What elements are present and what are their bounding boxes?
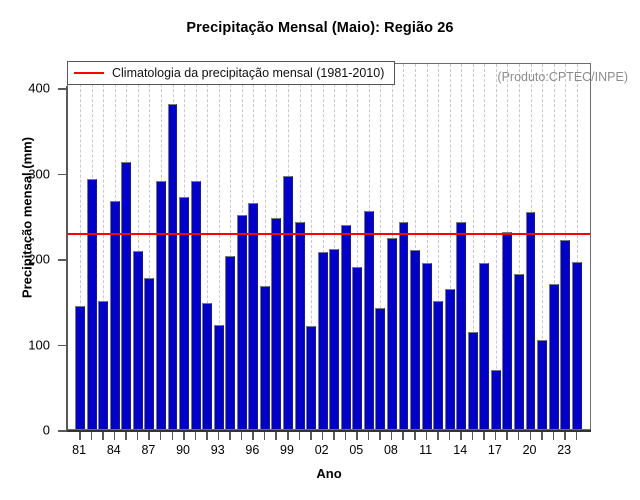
x-axis-tick-label: 20 xyxy=(515,443,545,457)
x-axis-tick xyxy=(79,432,81,440)
bar xyxy=(133,251,143,429)
x-axis-tick xyxy=(414,432,416,440)
bar xyxy=(202,303,212,429)
bar xyxy=(456,222,466,429)
x-axis-tick xyxy=(472,432,474,440)
y-axis-tick xyxy=(58,174,67,176)
x-axis-tick xyxy=(553,432,555,440)
y-axis-label: Precipitação mensal (mm) xyxy=(20,53,35,383)
bar xyxy=(399,222,409,429)
x-axis-tick xyxy=(264,432,266,440)
legend-line-swatch-icon xyxy=(74,72,104,74)
x-axis-tick xyxy=(506,432,508,440)
bar xyxy=(121,162,131,429)
y-axis-tick xyxy=(58,345,67,347)
bar xyxy=(248,203,258,429)
bar xyxy=(549,284,559,429)
x-axis-tick-label: 93 xyxy=(203,443,233,457)
bar xyxy=(560,240,570,429)
x-axis-tick-label: 08 xyxy=(376,443,406,457)
x-axis-tick xyxy=(252,432,254,440)
x-axis-tick-label: 17 xyxy=(480,443,510,457)
x-axis-tick xyxy=(576,432,578,440)
y-axis-tick xyxy=(58,430,67,432)
y-axis-tick xyxy=(58,259,67,261)
bar xyxy=(260,286,270,429)
bar xyxy=(352,267,362,429)
x-axis-tick xyxy=(287,432,289,440)
bar xyxy=(214,325,224,429)
chart-container: Precipitação Mensal (Maio): Região 26 01… xyxy=(0,0,640,500)
x-axis-tick xyxy=(564,432,566,440)
bar xyxy=(329,249,339,429)
bar xyxy=(537,340,547,429)
bar xyxy=(271,218,281,429)
x-axis-tick xyxy=(460,432,462,440)
x-axis-tick-label: 99 xyxy=(272,443,302,457)
bar xyxy=(526,212,536,429)
x-axis-tick xyxy=(275,432,277,440)
x-axis-tick xyxy=(449,432,451,440)
x-axis-tick-label: 11 xyxy=(411,443,441,457)
bar xyxy=(225,256,235,429)
legend-label: Climatologia da precipitação mensal (198… xyxy=(112,66,384,80)
y-axis-tick xyxy=(58,88,67,90)
x-axis-tick xyxy=(426,432,428,440)
bar xyxy=(468,332,478,429)
x-axis-tick xyxy=(437,432,439,440)
x-axis-line xyxy=(67,430,591,432)
x-axis-tick xyxy=(206,432,208,440)
x-axis-label: Ano xyxy=(67,466,591,481)
bar xyxy=(433,301,443,429)
x-axis-tick xyxy=(391,432,393,440)
x-axis-tick xyxy=(241,432,243,440)
x-axis-tick xyxy=(541,432,543,440)
x-axis-tick xyxy=(483,432,485,440)
x-axis-tick xyxy=(368,432,370,440)
x-axis-tick xyxy=(148,432,150,440)
x-axis-tick-label: 96 xyxy=(237,443,267,457)
legend: Climatologia da precipitação mensal (198… xyxy=(67,61,395,85)
bar xyxy=(168,104,178,429)
x-axis-tick xyxy=(195,432,197,440)
x-axis-tick xyxy=(229,432,231,440)
x-axis-tick xyxy=(172,432,174,440)
x-axis-tick-label: 02 xyxy=(307,443,337,457)
bar xyxy=(410,250,420,429)
bar xyxy=(491,370,501,429)
x-axis-tick xyxy=(356,432,358,440)
bar xyxy=(375,308,385,429)
bar xyxy=(98,301,108,429)
x-axis-tick xyxy=(114,432,116,440)
bar xyxy=(306,326,316,429)
bar xyxy=(75,306,85,429)
plot-area xyxy=(67,63,591,430)
bar xyxy=(295,222,305,429)
bar xyxy=(144,278,154,429)
x-axis-tick xyxy=(160,432,162,440)
plot-inner xyxy=(68,64,590,429)
bar xyxy=(341,225,351,429)
bar xyxy=(110,201,120,429)
chart-title: Precipitação Mensal (Maio): Região 26 xyxy=(0,20,640,36)
x-axis-tick xyxy=(310,432,312,440)
x-axis-tick-label: 05 xyxy=(341,443,371,457)
bar xyxy=(514,274,524,429)
x-axis-tick xyxy=(518,432,520,440)
x-axis-tick xyxy=(183,432,185,440)
x-axis-tick xyxy=(322,432,324,440)
x-axis-tick-label: 14 xyxy=(445,443,475,457)
climatology-reference-line xyxy=(68,233,590,235)
bar xyxy=(283,176,293,429)
bar xyxy=(502,232,512,429)
x-axis-tick-label: 90 xyxy=(168,443,198,457)
bar xyxy=(87,179,97,429)
x-axis-tick xyxy=(402,432,404,440)
x-axis-tick-label: 87 xyxy=(133,443,163,457)
x-axis-tick-label: 23 xyxy=(549,443,579,457)
x-axis-tick xyxy=(345,432,347,440)
bar xyxy=(422,263,432,429)
bar xyxy=(191,181,201,429)
x-axis-tick xyxy=(102,432,104,440)
x-axis-tick-label: 81 xyxy=(64,443,94,457)
bar xyxy=(572,262,582,429)
x-axis-tick xyxy=(137,432,139,440)
bar xyxy=(387,238,397,429)
x-axis-tick xyxy=(125,432,127,440)
bar xyxy=(364,211,374,429)
bar xyxy=(237,215,247,429)
x-axis-tick xyxy=(218,432,220,440)
x-axis-tick xyxy=(530,432,532,440)
x-axis-tick xyxy=(91,432,93,440)
bar xyxy=(179,197,189,429)
y-axis-tick-label: 0 xyxy=(0,423,50,438)
bar xyxy=(445,289,455,429)
bar xyxy=(318,252,328,429)
x-axis-tick-label: 84 xyxy=(99,443,129,457)
bar xyxy=(479,263,489,429)
product-annotation: (Produto:CPTEC/INPE) xyxy=(497,70,628,84)
x-axis-tick xyxy=(379,432,381,440)
x-axis-tick xyxy=(333,432,335,440)
x-axis-tick xyxy=(495,432,497,440)
x-axis-tick xyxy=(299,432,301,440)
bar xyxy=(156,181,166,430)
